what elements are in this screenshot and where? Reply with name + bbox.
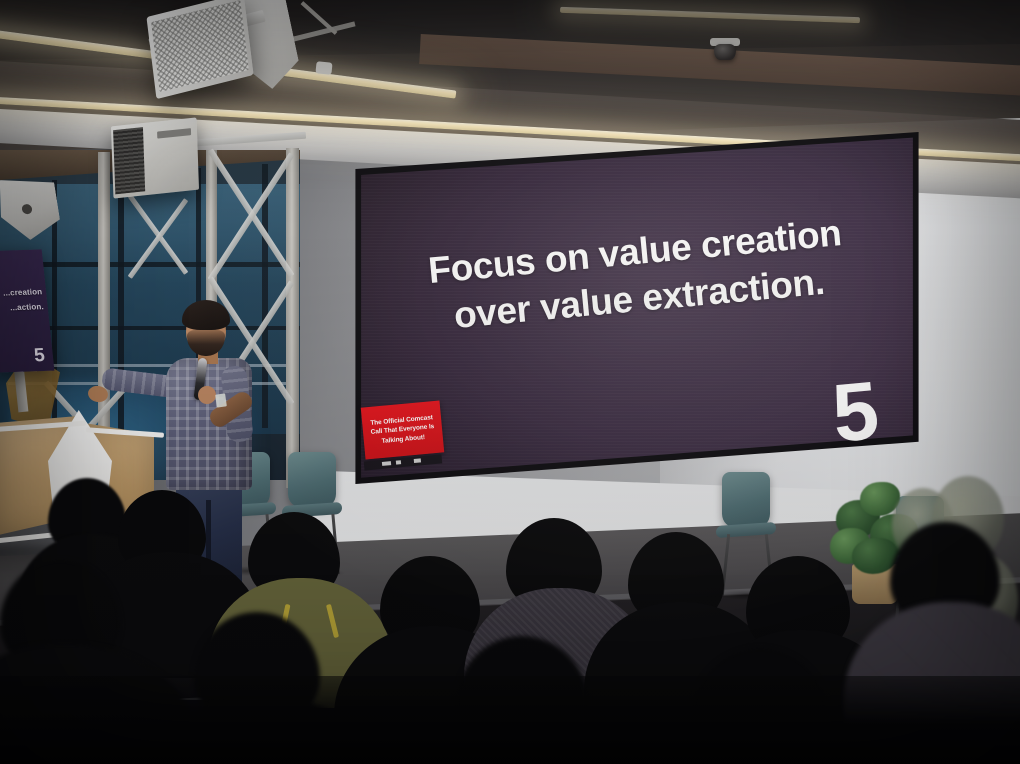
- speaker-driver-grille: [113, 127, 145, 194]
- footer-mark: [414, 458, 421, 463]
- projection-screen: Focus on value creation over value extra…: [352, 132, 922, 484]
- confidence-monitor-line2: ...action.: [10, 302, 44, 312]
- presentation-scene-photo: ...creation ...action. 5 Focus on value …: [0, 0, 1020, 764]
- confidence-monitor-slide-number: 5: [33, 346, 46, 365]
- window-transom: [0, 262, 300, 267]
- presenter-pocket-badge: [215, 393, 227, 407]
- slide-callout-card: The Official Comcast Call That Everyone …: [361, 400, 444, 459]
- speaker-grille: [151, 0, 249, 92]
- speaker-mount-knob: [21, 204, 33, 215]
- chair-backrest: [288, 452, 336, 508]
- ceiling-sensor: [315, 61, 332, 75]
- confidence-monitor-line1: ...creation: [3, 287, 43, 297]
- foreground-shadow: [0, 676, 1020, 764]
- footer-mark: [396, 460, 401, 464]
- chair-backrest: [722, 472, 770, 528]
- speaker-label-plate: [157, 128, 191, 139]
- presenter-beard: [187, 330, 225, 356]
- line-array-speaker: [111, 117, 199, 198]
- dome-security-camera-icon: [714, 44, 736, 60]
- slide-number: 5: [830, 376, 879, 450]
- presenter-hair: [182, 300, 230, 330]
- footer-mark: [382, 461, 391, 466]
- presenter-right-hand: [198, 386, 216, 404]
- steel-column: [286, 148, 299, 488]
